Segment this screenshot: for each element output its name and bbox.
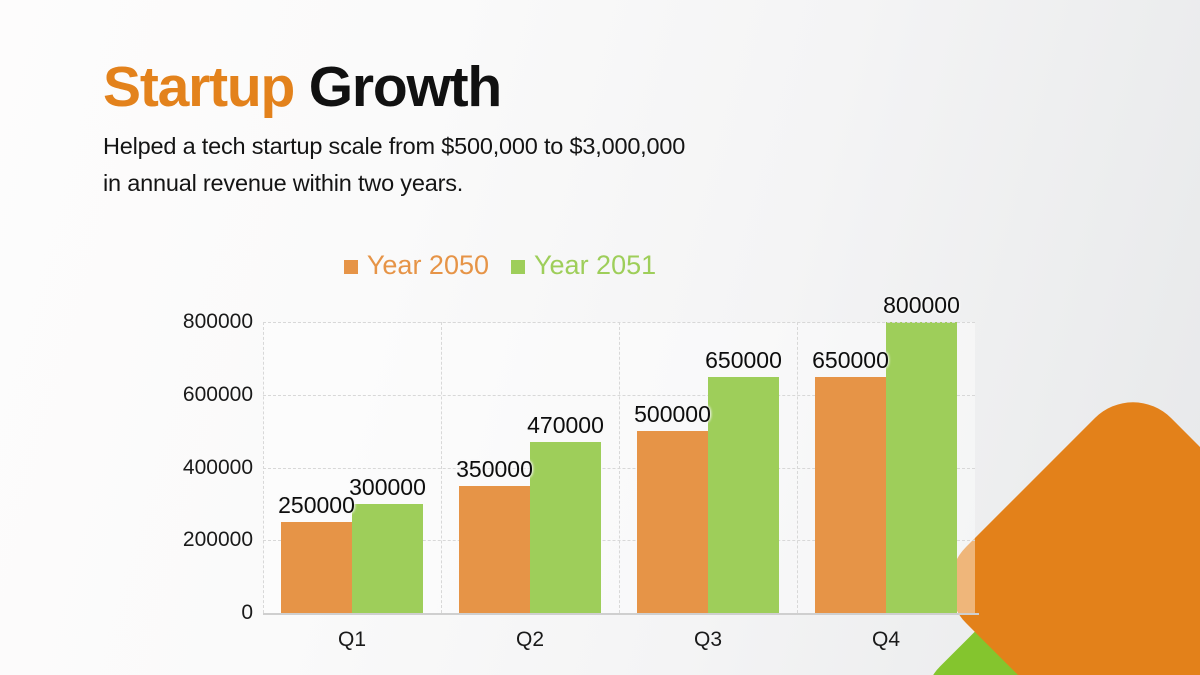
bar-q3-series0[interactable] [637,431,708,613]
page-title-accent: Startup [103,55,294,119]
bar-q2-series1[interactable] [530,442,601,613]
x-axis-tick-label: Q3 [694,628,722,652]
x-axis-tick-label: Q1 [338,628,366,652]
gridline-horizontal [263,322,975,323]
legend-label: Year 2050 [367,250,489,281]
bar-q3-series1[interactable] [708,377,779,613]
gridline-vertical [797,322,798,613]
bar-q1-series0[interactable] [281,522,352,613]
page-title: Startup Growth [103,58,685,118]
bar-q4-series0[interactable] [815,377,886,613]
bar-value-label: 800000 [883,292,960,319]
slide-header: Startup Growth Helped a tech startup sca… [103,58,685,203]
bar-value-label: 350000 [456,456,533,483]
bar-value-label: 650000 [812,347,889,374]
gridline-vertical [441,322,442,613]
page-subtitle: Helped a tech startup scale from $500,00… [103,128,685,203]
legend-label: Year 2051 [534,250,656,281]
bar-value-label: 500000 [634,401,711,428]
bar-q2-series0[interactable] [459,486,530,613]
x-axis-line [263,613,979,615]
bar-q4-series1[interactable] [886,322,957,613]
page-title-rest: Growth [294,55,501,119]
gridline-vertical [263,322,264,613]
legend-swatch-icon [511,260,525,274]
bar-value-label: 650000 [705,347,782,374]
legend-swatch-icon [344,260,358,274]
legend-item-0[interactable]: Year 2050 [344,250,489,281]
bar-value-label: 470000 [527,412,604,439]
y-axis-tick-label: 200000 [133,528,253,552]
gridline-vertical [619,322,620,613]
slide-canvas: Startup Growth Helped a tech startup sca… [0,0,1200,675]
chart-legend: Year 2050Year 2051 [0,250,1000,281]
x-axis-tick-label: Q2 [516,628,544,652]
legend-item-1[interactable]: Year 2051 [511,250,656,281]
y-axis-tick-label: 600000 [133,383,253,407]
bar-value-label: 300000 [349,474,426,501]
bar-chart: Year 2050Year 2051 020000040000060000080… [0,250,1200,670]
y-axis: 0200000400000600000800000 [133,322,253,613]
y-axis-tick-label: 800000 [133,310,253,334]
bar-value-label: 250000 [278,492,355,519]
bar-q1-series1[interactable] [352,504,423,613]
y-axis-tick-label: 0 [133,601,253,625]
x-axis-tick-label: Q4 [872,628,900,652]
y-axis-tick-label: 400000 [133,456,253,480]
